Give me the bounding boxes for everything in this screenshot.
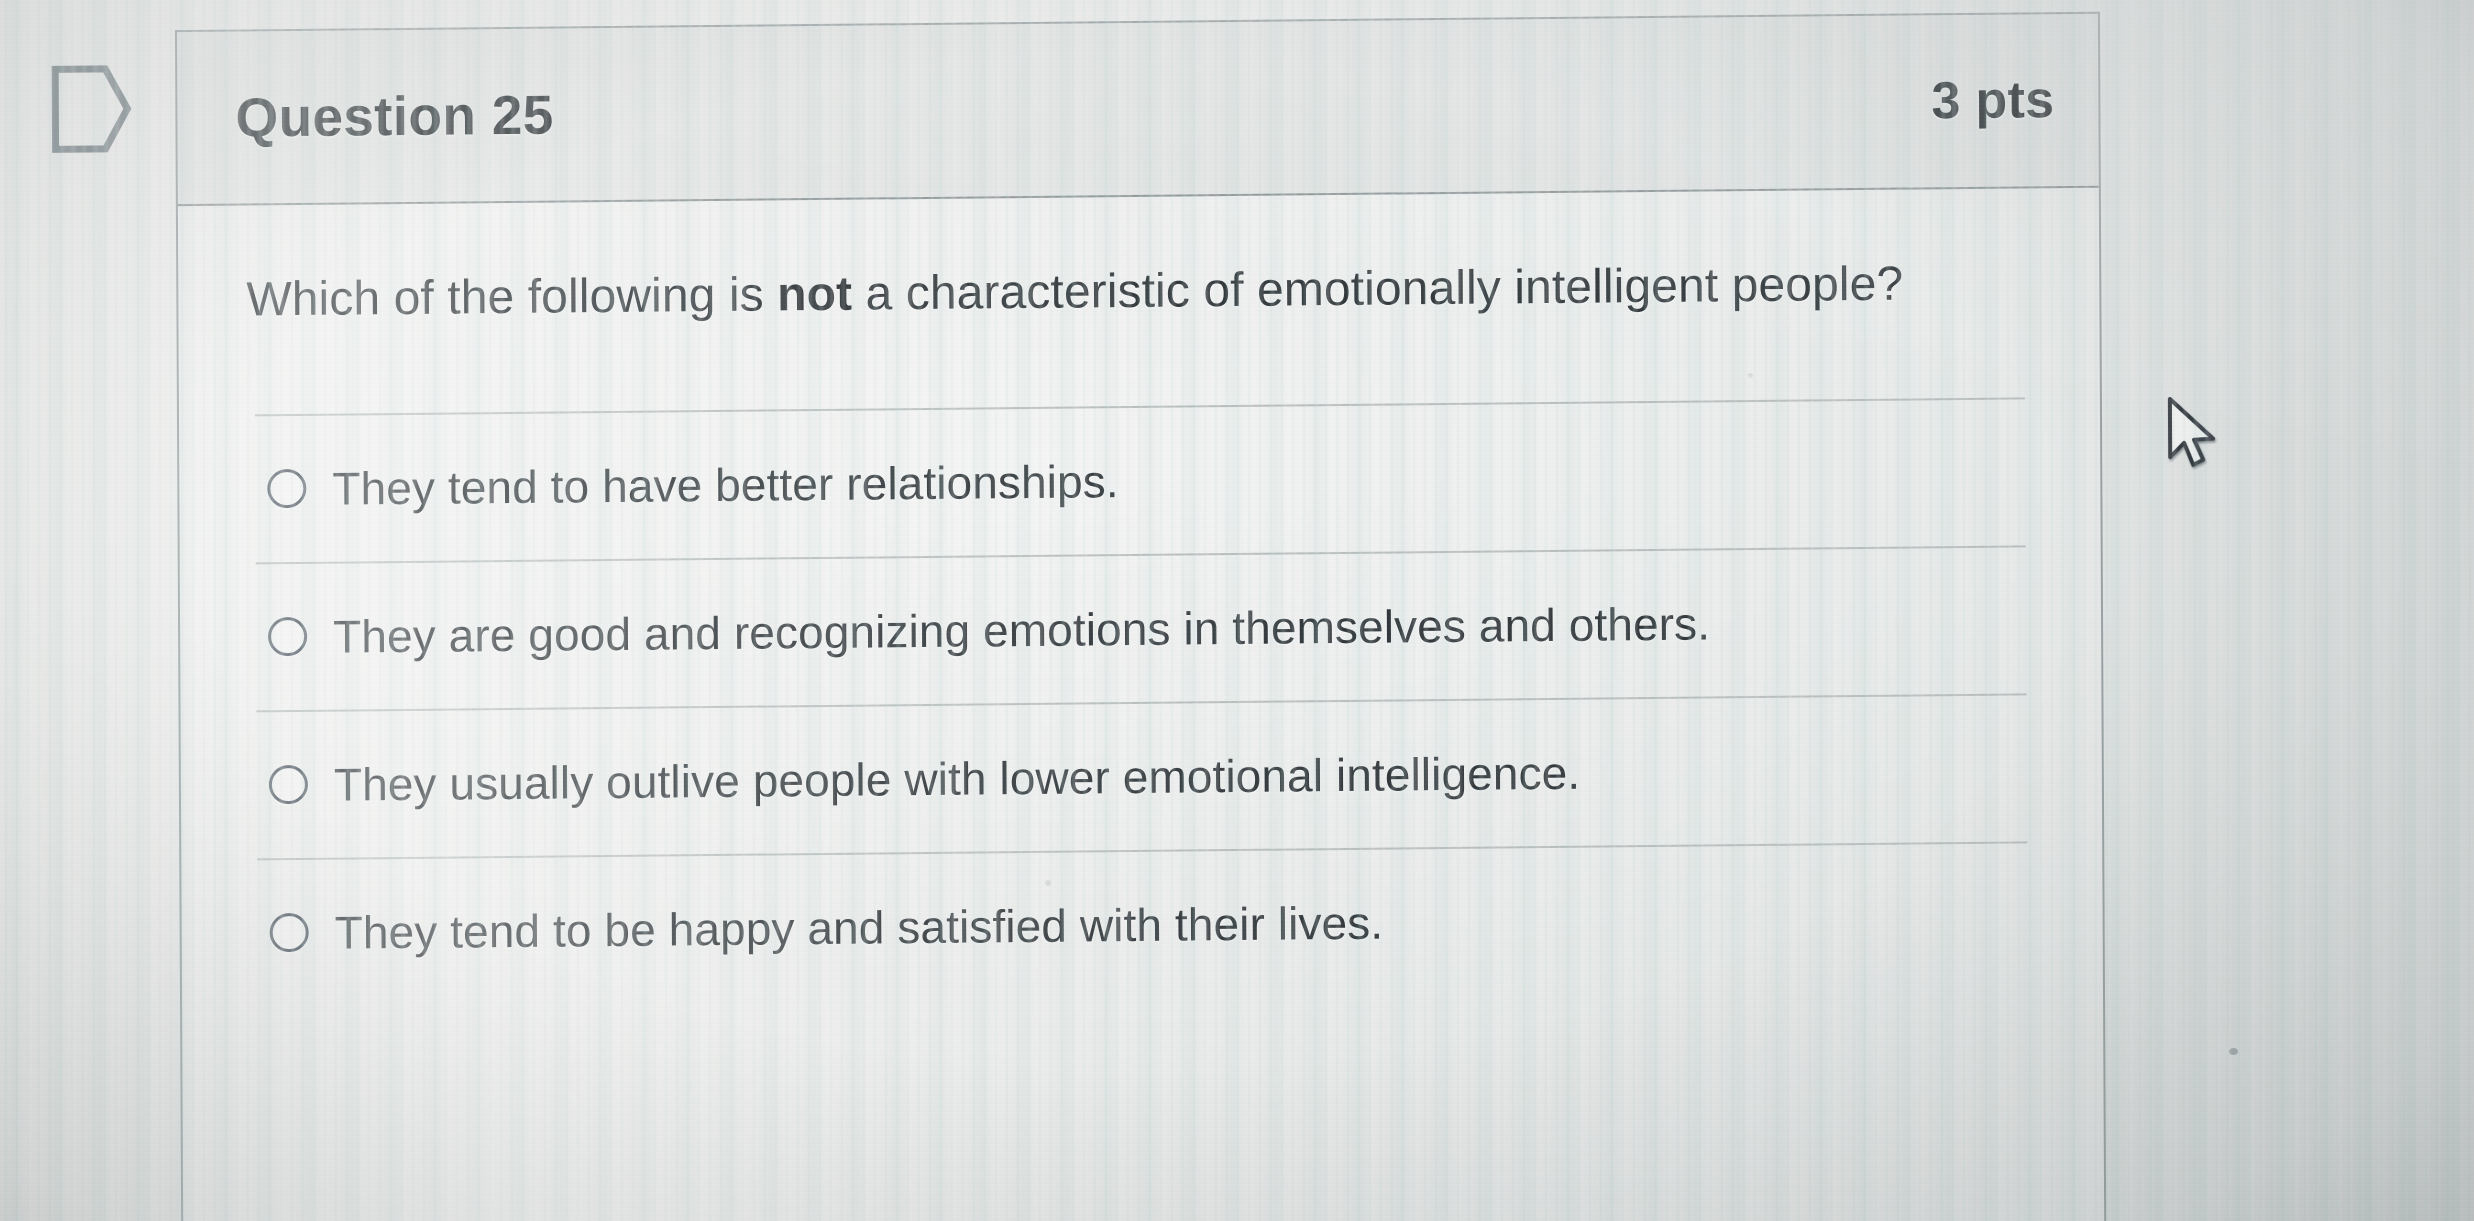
mouse-pointer-icon [2165, 395, 2221, 474]
answer-option-2[interactable]: They are good and recognizing emotions i… [256, 545, 2027, 710]
radio-button-icon-2[interactable] [268, 617, 307, 656]
dust-speck-1 [2229, 1048, 2238, 1055]
prompt-emphasis: not [777, 268, 852, 322]
answer-label-2: They are good and recognizing emotions i… [333, 596, 1710, 663]
answer-label-1: They tend to have better relationships. [332, 454, 1119, 516]
question-card: Question 25 3 pts Which of the following… [175, 12, 2106, 1221]
answer-option-1[interactable]: They tend to have better relationships. [255, 397, 2026, 562]
question-title: Question 25 [235, 83, 553, 150]
prompt-part-2: a characteristic of emotionally intellig… [852, 258, 1903, 321]
question-body: Which of the following is not a characte… [178, 188, 2103, 1007]
answer-option-3[interactable]: They usually outlive people with lower e… [257, 693, 2028, 858]
answer-label-4: They tend to be happy and satisfied with… [335, 895, 1384, 959]
photographed-screen-backdrop: Question 25 3 pts Which of the following… [0, 0, 2474, 1221]
dust-speck-2 [1045, 880, 1051, 886]
question-points-badge: 3 pts [1931, 70, 2054, 131]
question-header: Question 25 3 pts [177, 14, 2099, 206]
radio-button-icon-4[interactable] [270, 913, 309, 952]
screen-content: Question 25 3 pts Which of the following… [0, 0, 2474, 1221]
answer-list: They tend to have better relationships. … [255, 397, 2028, 1006]
dust-speck-3 [1748, 373, 1753, 378]
prompt-part-1: Which of the following is [246, 268, 777, 326]
question-prompt: Which of the following is not a characte… [246, 255, 1926, 330]
answer-option-4[interactable]: They tend to be happy and satisfied with… [257, 841, 2028, 1006]
answer-label-3: They usually outlive people with lower e… [334, 745, 1581, 811]
radio-button-icon-1[interactable] [267, 469, 306, 508]
flag-outline-icon[interactable] [47, 55, 136, 164]
radio-button-icon-3[interactable] [269, 765, 308, 804]
